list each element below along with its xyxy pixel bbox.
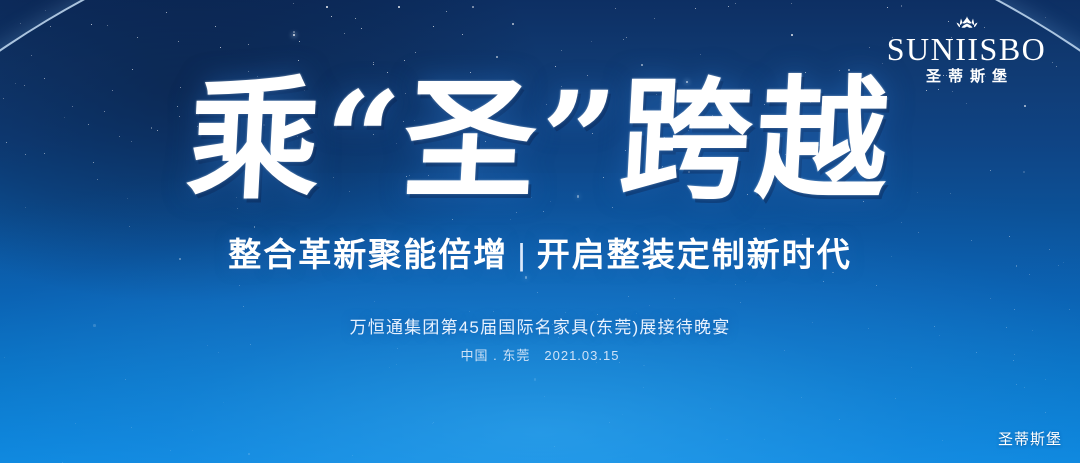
subtitle-right: 开启整装定制新时代	[537, 236, 852, 273]
watermark: 圣蒂斯堡	[998, 428, 1062, 449]
subtitle-divider: |	[517, 238, 528, 273]
brand-wordmark: SUNIISBO	[879, 33, 1054, 65]
event-banner: SUNIISBO 圣蒂斯堡 乘“圣”跨越 整合革新聚能倍增|开启整装定制新时代 …	[0, 0, 1080, 463]
subtitle: 整合革新聚能倍增|开启整装定制新时代	[0, 228, 1080, 276]
event-name: 万恒通集团第45届国际名家具(东莞)展接待晚宴	[0, 313, 1080, 338]
headline-title: 乘“圣”跨越	[0, 72, 1080, 209]
event-meta: 中国 . 东莞2021.03.15	[0, 345, 1080, 364]
subtitle-left: 整合革新聚能倍增	[228, 236, 508, 273]
lotus-starburst-icon	[954, 14, 980, 32]
event-location: 中国 . 东莞	[461, 348, 531, 363]
event-date: 2021.03.15	[544, 348, 619, 363]
